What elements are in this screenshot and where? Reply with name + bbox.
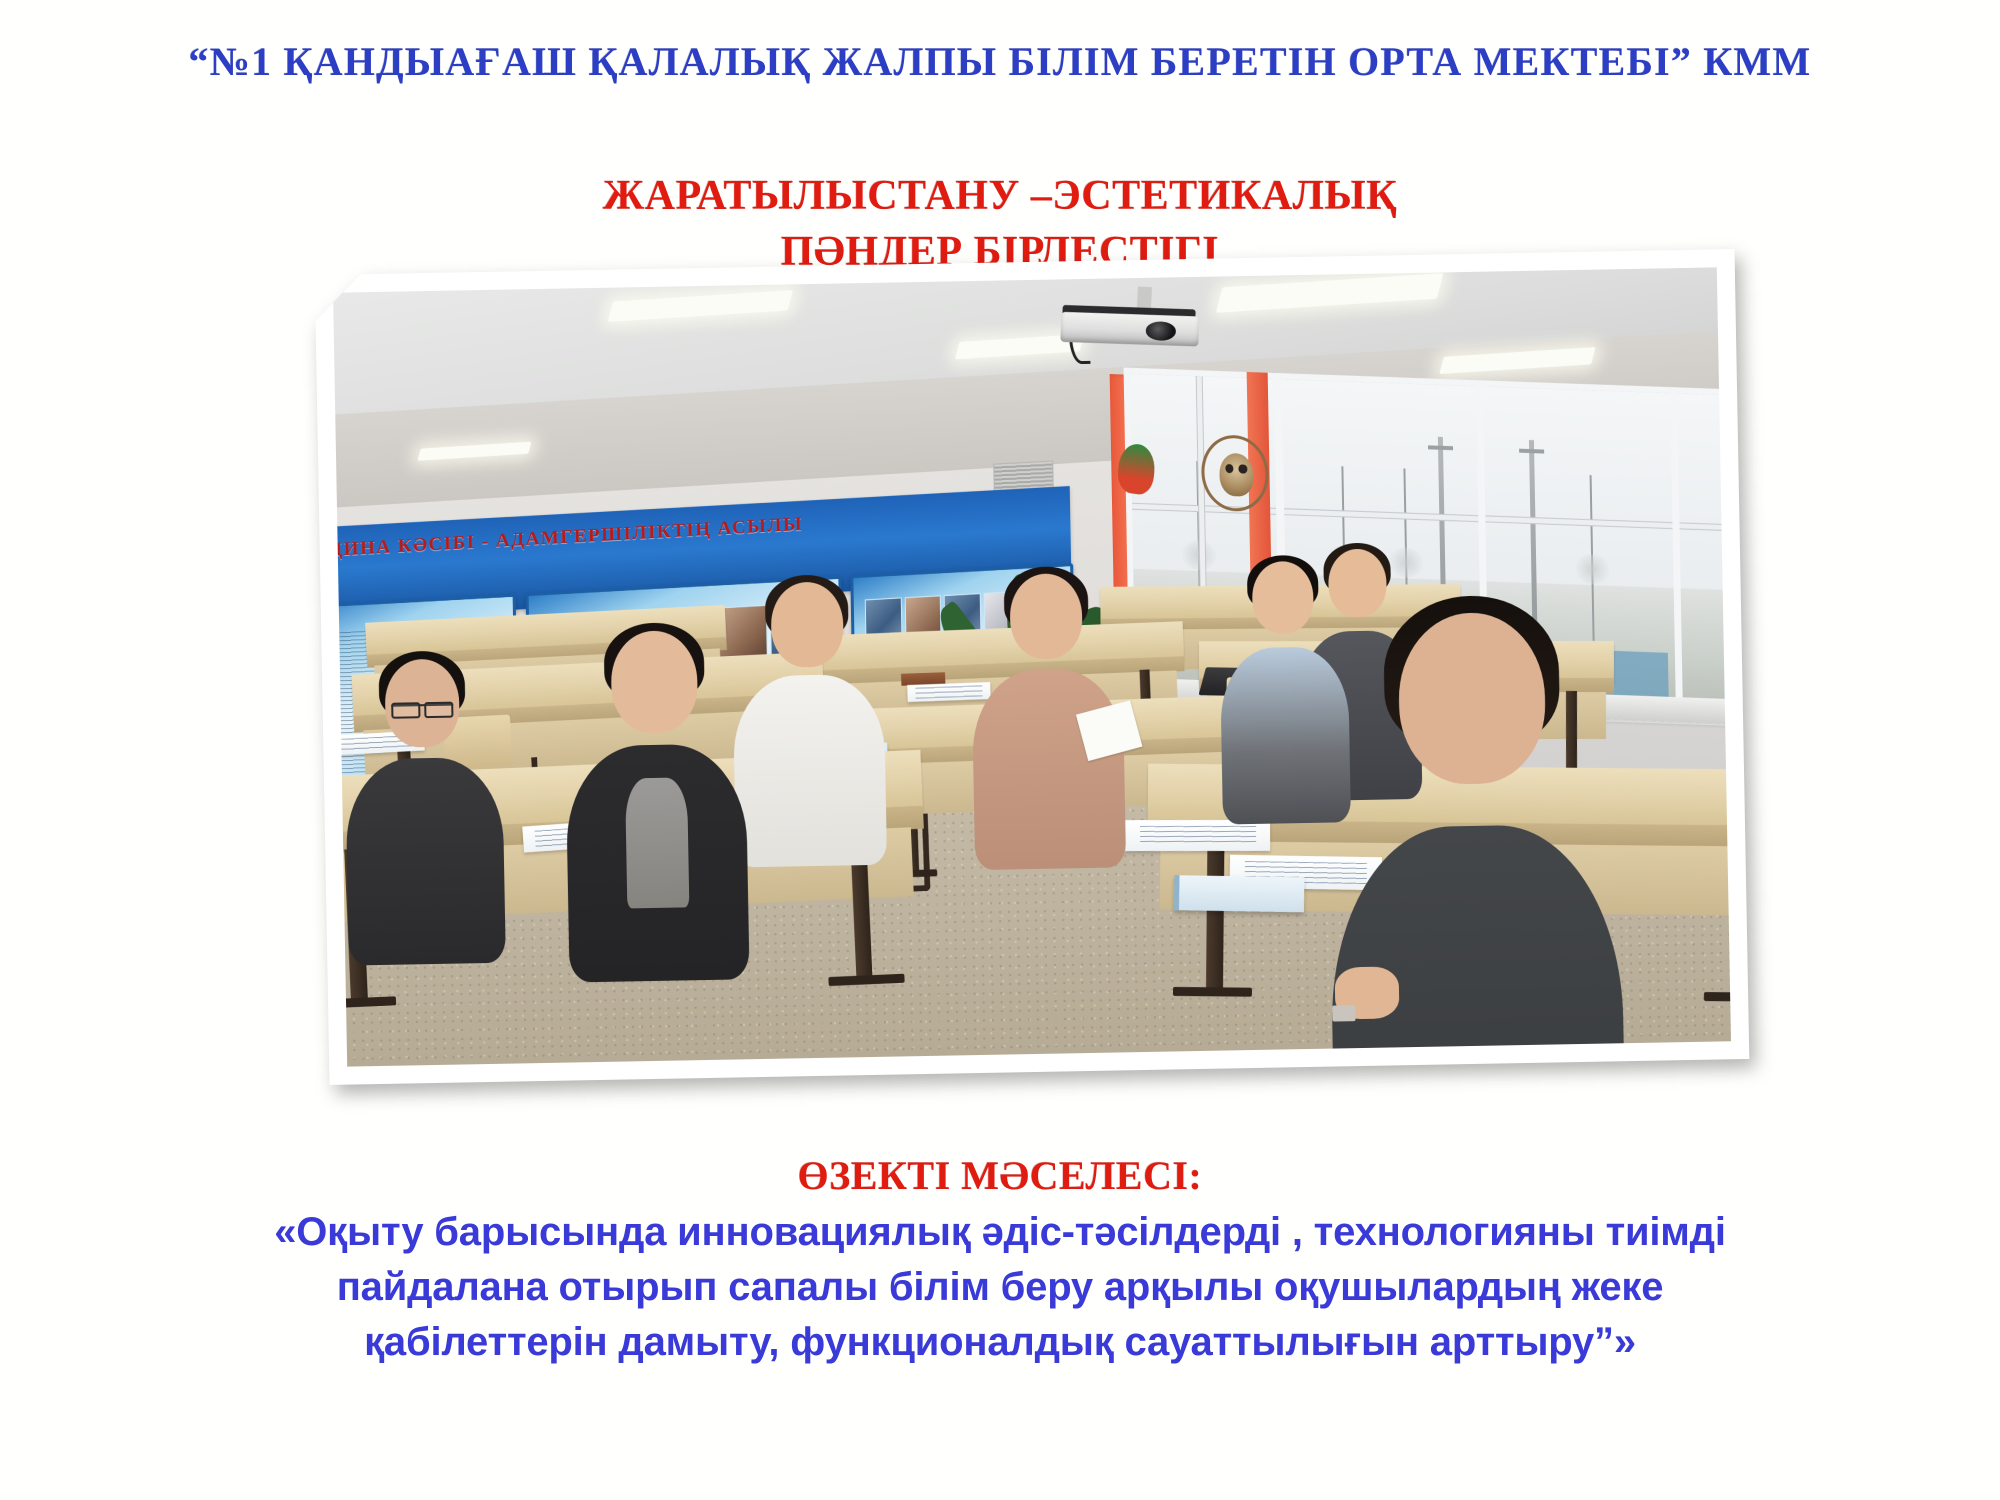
issue-text: «Оқыту барысында инновациялық әдіс-тәсіл… [0,1205,2000,1370]
projector-body [1060,312,1199,347]
owl-body [1219,453,1254,497]
sky [1677,394,1731,601]
photo-frame: ИЦИНА КӘСІБІ - АДАМГЕРШІЛІКТІҢ АСЫЛЫ [315,249,1750,1085]
paper-sheet [1125,820,1270,851]
issue-text-line: қабілеттерін дамыту, функционалдық сауат… [0,1315,2000,1370]
person-torso [732,673,887,867]
person-torso [972,669,1127,870]
person-head [384,658,460,748]
person-seated [1327,548,1387,638]
person-seated [1252,561,1315,655]
person-head [1252,561,1314,634]
desk-foot [1172,987,1252,997]
person-head [611,631,699,734]
desk-leg [1205,839,1224,992]
person-seated [770,581,844,683]
classroom-scene: ИЦИНА КӘСІБІ - АДАМГЕРШІЛІКТІҢ АСЫЛЫ [333,267,1731,1066]
issue-text-line: «Оқыту барысында инновациялық әдіс-тәсіл… [0,1205,2000,1260]
person-seated [384,658,461,768]
issue-text-line: пайдалана отырып сапалы білім беру арқыл… [0,1260,2000,1315]
person-foreground-teacher [1398,611,1548,846]
department-title-line1: ЖАРАТЫЛЫСТАНУ –ЭСТЕТИКАЛЫҚ [603,173,1397,219]
school-title: “№1 ҚАНДЫАҒАШ ҚАЛАЛЫҚ ЖАЛПЫ БІЛІМ БЕРЕТІ… [0,38,2000,85]
person-seated [611,631,699,756]
classroom-photo: ИЦИНА КӘСІБІ - АДАМГЕРШІЛІКТІҢ АСЫЛЫ [315,249,1750,1085]
person-head [1327,548,1386,618]
wristwatch-icon [1332,1005,1356,1022]
person-vest [625,777,689,908]
photo-image: ИЦИНА КӘСІБІ - АДАМГЕРШІЛІКТІҢ АСЫЛЫ [333,267,1731,1066]
glasses-icon [391,704,454,720]
glasses-lens [391,703,420,720]
window [1671,388,1731,731]
person-seated [1010,573,1084,679]
glasses-lens [424,702,453,719]
person-torso [345,757,506,966]
person-head [770,581,843,667]
person-torso [1220,646,1351,825]
issue-label: ӨЗЕКТІ МӘСЕЛЕСІ: [0,1152,2000,1199]
projector-icon [1060,289,1199,350]
desk-foot [1704,992,1731,1002]
person-head [1010,573,1083,659]
slide-root: “№1 ҚАНДЫАҒАШ ҚАЛАЛЫҚ ЖАЛПЫ БІЛІМ БЕРЕТІ… [0,0,2000,1500]
open-notebook [1174,875,1304,912]
